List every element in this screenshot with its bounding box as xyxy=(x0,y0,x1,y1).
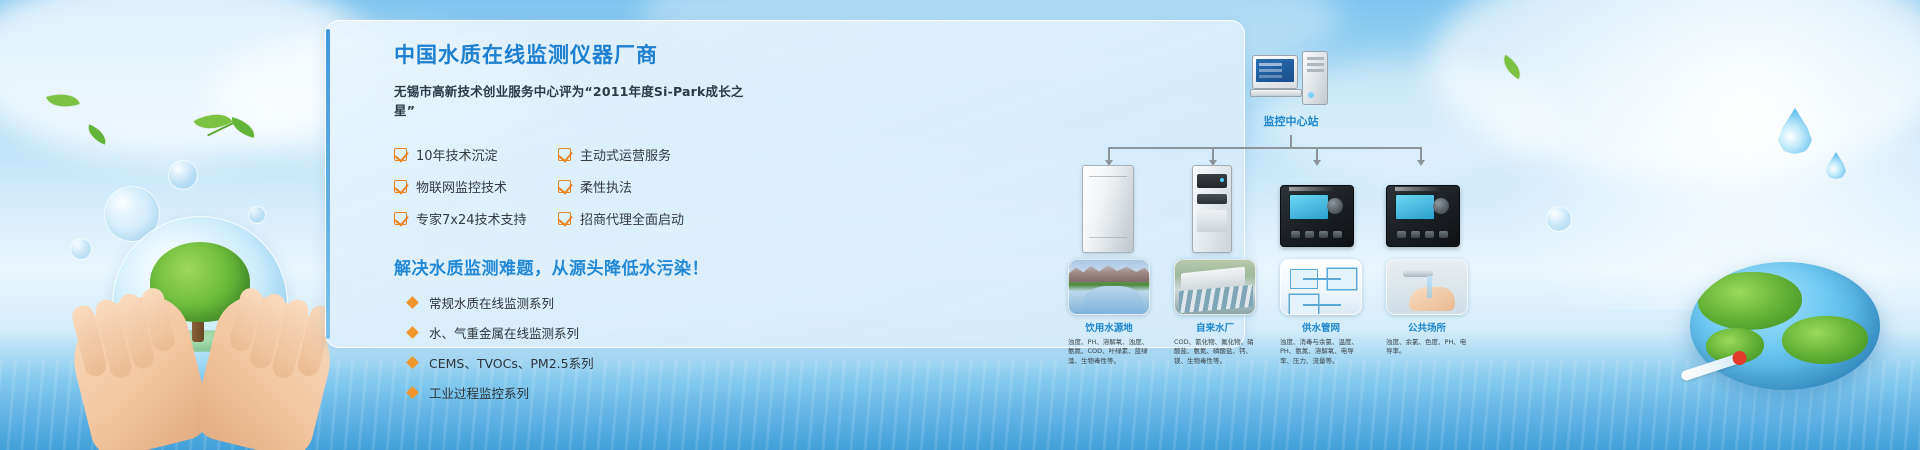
device-row xyxy=(1056,161,1496,253)
checkbox-checked-icon xyxy=(394,180,407,193)
device-cabinet-analyzer[interactable] xyxy=(1082,165,1134,253)
product-line-list: 常规水质在线监测系列 水、气重金属在线监测系列 CEMS、TVOCs、PM2.5… xyxy=(394,293,754,402)
earth-globe xyxy=(1690,262,1880,390)
checkbox-checked-icon xyxy=(394,212,407,225)
scene-photo-drinking-water-source xyxy=(1068,259,1150,315)
scene-card[interactable]: 公共场所 浊度、余氯、色度、PH、电导率。 xyxy=(1386,259,1468,357)
monitor-icon xyxy=(1252,55,1298,89)
checkbox-checked-icon xyxy=(394,148,407,161)
feature-item[interactable]: 招商代理全面启动 xyxy=(558,209,722,228)
page-title: 中国水质在线监测仪器厂商 xyxy=(394,43,754,68)
hands-illustration xyxy=(72,230,332,450)
feature-label: 招商代理全面启动 xyxy=(580,209,684,228)
checkbox-checked-icon xyxy=(558,212,571,225)
scene-caption: 供水管网 xyxy=(1280,320,1362,334)
scene-card[interactable]: 自来水厂 COD、氰化物、氟化物、硝酸盐、氨氮、磷酸盐、钙、镁、生物毒性等。 xyxy=(1174,259,1256,366)
monitoring-topology-diagram: 监控中心站 xyxy=(1056,43,1496,343)
product-line-label: 水、气重金属在线监测系列 xyxy=(429,323,579,342)
scene-photo-pipe-network xyxy=(1280,259,1362,315)
scene-card[interactable]: 供水管网 浊度、消毒与余氯、温度、PH、氨氮、溶解氧、电导率、压力、流量等。 xyxy=(1280,259,1362,366)
keyboard-icon xyxy=(1250,89,1302,97)
scene-caption: 自来水厂 xyxy=(1174,320,1256,334)
diamond-bullet-icon xyxy=(406,296,419,309)
scene-photo-public-place xyxy=(1386,259,1468,315)
connector-horizontal xyxy=(1108,147,1420,149)
center-station-label: 监控中心站 xyxy=(1206,113,1376,129)
feature-checklist: 10年技术沉淀 主动式运营服务 物联网监控技术 柔性执法 xyxy=(394,145,724,228)
monitor-screen xyxy=(1256,59,1294,82)
page-subtitle: 无锡市高新技术创业服务中心评为“2011年度Si-Park成长之星” xyxy=(394,81,754,119)
feature-item[interactable]: 物联网监控技术 xyxy=(394,177,558,196)
bubble-shape xyxy=(168,160,198,190)
bubble-shape xyxy=(248,206,266,224)
list-item[interactable]: 常规水质在线监测系列 xyxy=(394,293,754,312)
checkbox-checked-icon xyxy=(558,148,571,161)
feature-item[interactable]: 专家7x24技术支持 xyxy=(394,209,558,228)
bubble-shape xyxy=(1546,206,1572,232)
feature-label: 柔性执法 xyxy=(580,177,632,196)
left-text-column: 中国水质在线监测仪器厂商 无锡市高新技术创业服务中心评为“2011年度Si-Pa… xyxy=(394,43,754,413)
scene-description: 浊度、PH、溶解氧、浊度、氨氮、COD、叶绿素、蓝绿藻、生物毒性等。 xyxy=(1068,338,1150,366)
scene-photo-water-plant xyxy=(1174,259,1256,315)
list-item[interactable]: 水、气重金属在线监测系列 xyxy=(394,323,754,342)
diamond-bullet-icon xyxy=(406,356,419,369)
feature-label: 主动式运营服务 xyxy=(580,145,671,164)
list-item[interactable]: CEMS、TVOCs、PM2.5系列 xyxy=(394,353,754,372)
diamond-bullet-icon xyxy=(406,326,419,339)
feature-item[interactable]: 柔性执法 xyxy=(558,177,722,196)
solution-heading: 解决水质监测难题，从源头降低水污染！ xyxy=(394,254,754,279)
connector-arrow xyxy=(1108,147,1110,161)
feature-item[interactable]: 10年技术沉淀 xyxy=(394,145,558,164)
device-panel-controller-1[interactable] xyxy=(1280,185,1354,247)
scene-caption: 公共场所 xyxy=(1386,320,1468,334)
feature-label: 10年技术沉淀 xyxy=(416,145,498,164)
scene-card[interactable]: 饮用水源地 浊度、PH、溶解氧、浊度、氨氮、COD、叶绿素、蓝绿藻、生物毒性等。 xyxy=(1068,259,1150,366)
product-line-label: 常规水质在线监测系列 xyxy=(429,293,554,312)
feature-item[interactable]: 主动式运营服务 xyxy=(558,145,722,164)
feature-label: 专家7x24技术支持 xyxy=(416,209,527,228)
connector-arrow xyxy=(1212,147,1214,161)
scene-description: COD、氰化物、氟化物、硝酸盐、氨氮、磷酸盐、钙、镁、生物毒性等。 xyxy=(1174,338,1256,366)
scene-description: 浊度、余氯、色度、PH、电导率。 xyxy=(1386,338,1468,357)
connector-vertical xyxy=(1290,135,1292,147)
scene-caption: 饮用水源地 xyxy=(1068,320,1150,334)
feature-row: 物联网监控技术 柔性执法 xyxy=(394,177,724,196)
device-rack-analyzer[interactable] xyxy=(1192,165,1232,253)
list-item[interactable]: 工业过程监控系列 xyxy=(394,383,754,402)
main-content-card: 中国水质在线监测仪器厂商 无锡市高新技术创业服务中心评为“2011年度Si-Pa… xyxy=(325,20,1245,348)
connector-lines xyxy=(1056,135,1496,163)
feature-row: 专家7x24技术支持 招商代理全面启动 xyxy=(394,209,724,228)
monitoring-center-computer xyxy=(1252,51,1330,107)
product-line-label: CEMS、TVOCs、PM2.5系列 xyxy=(429,353,594,372)
connector-arrow xyxy=(1420,147,1422,161)
application-scene-row: 饮用水源地 浊度、PH、溶解氧、浊度、氨氮、COD、叶绿素、蓝绿藻、生物毒性等。… xyxy=(1056,259,1496,343)
checkbox-checked-icon xyxy=(558,180,571,193)
device-panel-controller-2[interactable] xyxy=(1386,185,1460,247)
connector-arrow xyxy=(1316,147,1318,161)
server-tower-icon xyxy=(1302,51,1328,105)
feature-row: 10年技术沉淀 主动式运营服务 xyxy=(394,145,724,164)
scene-description: 浊度、消毒与余氯、温度、PH、氨氮、溶解氧、电导率、压力、流量等。 xyxy=(1280,338,1362,366)
diamond-bullet-icon xyxy=(406,386,419,399)
product-line-label: 工业过程监控系列 xyxy=(429,383,529,402)
feature-label: 物联网监控技术 xyxy=(416,177,507,196)
